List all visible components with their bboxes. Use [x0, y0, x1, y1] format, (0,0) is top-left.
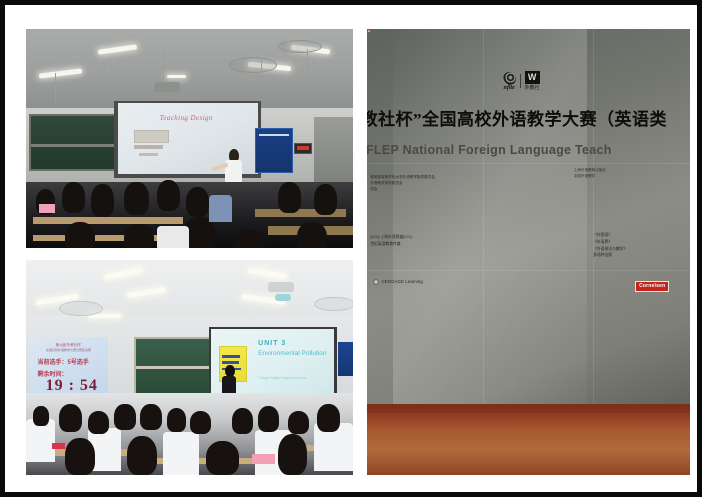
student-head: [206, 441, 239, 475]
audience-torso: [157, 226, 190, 248]
audience-head: [62, 182, 85, 213]
cengage-wordmark: CENGAGE Learning: [381, 279, 422, 284]
projector-mount: [163, 51, 164, 84]
sflep-w-icon: W: [525, 71, 540, 84]
nflte-wordmark: nflte: [503, 85, 514, 91]
desk-name-card: [252, 454, 275, 465]
slide-image-box: [134, 130, 169, 143]
ceiling-fan-icon: [278, 40, 323, 53]
projector-icon: [154, 82, 180, 93]
photo-classroom-contest: 第九届“外教社杯” 全国高校外语教学大赛分赛区决赛 当前选手：5号选手 剩余时间…: [26, 260, 353, 475]
sponsor-line: 世纪英语教育传媒: [370, 241, 467, 248]
student-head: [33, 406, 49, 425]
lamp-mount: [55, 73, 56, 104]
audience-head: [235, 230, 264, 248]
timer-header-1: 第九届“外教社杯”: [42, 342, 94, 346]
banner-sponsors-right: 《外国语》 《外语界》 《外语测试与教学》 多语种出版: [593, 232, 677, 259]
lamp-mount: [261, 60, 262, 86]
student-head: [114, 404, 135, 430]
audience-head: [297, 222, 326, 248]
cengage-mark-icon: [373, 279, 379, 285]
cengage-logo: CENGAGE Learning: [373, 279, 422, 285]
logo-divider: [520, 74, 521, 88]
organizer-line: 中国外语教学: [574, 173, 658, 179]
slide-unit-label: UNIT 3: [258, 340, 286, 347]
photo-award-ceremony: nflte W 外教社 教社杯”全国高校外语教学大赛（英语类 SFLEP Nat…: [367, 29, 690, 475]
banner-seam: [483, 29, 484, 413]
sponsor-line: (ICS)·上海外语频道(ICS): [370, 234, 467, 241]
student-head: [258, 406, 279, 432]
ceiling-fan-icon: [314, 297, 353, 312]
student-head: [232, 408, 253, 434]
banner-seam: [593, 29, 594, 413]
audience-head: [186, 187, 209, 218]
sponsor-line: 《外国语》: [593, 232, 677, 239]
wall-notice-board: [338, 342, 353, 376]
student-torso: [163, 432, 199, 475]
student-head: [59, 404, 82, 432]
audience-head: [124, 182, 149, 215]
ceiling-fan-icon: [59, 301, 104, 316]
slide-bullet-1: [134, 145, 163, 149]
timer-header-2: 全国高校外语教学大赛分赛区决赛: [39, 348, 98, 352]
student-head: [288, 411, 309, 435]
textbook-band: [222, 361, 238, 364]
slide-title: Teaching Design: [144, 114, 229, 125]
ceiling-fan-icon: [229, 57, 277, 72]
banner-organizers-right: 上海外语教育出版社 中国外语教学: [574, 167, 658, 179]
banner-seam: [367, 163, 690, 164]
sflep-cn-wordmark: 外教社: [525, 84, 540, 91]
sponsor-line: 《外语界》: [593, 239, 677, 246]
student-head: [317, 404, 340, 432]
audience-head: [278, 182, 301, 213]
projector-lens: [275, 294, 291, 300]
banner-title-chinese: 教社杯”全国高校外语教学大赛（英语类: [367, 105, 690, 130]
stage-floor: [367, 413, 690, 475]
student-head: [88, 411, 109, 435]
student-head: [140, 404, 161, 430]
banner-seam: [367, 270, 690, 271]
cornelsen-logo: Cornelsen: [635, 281, 669, 292]
slide-topic: Environmental Pollution: [258, 350, 330, 358]
banner-organizers-left: 教育部高等学校大学外语教学指导委员会 外语教学指导委员会 学会: [370, 174, 460, 192]
desk-marker: [52, 443, 65, 449]
desk-name-card: [39, 204, 55, 213]
student-torso: [26, 419, 55, 462]
student-head: [167, 408, 187, 432]
certificate-folder-right: [367, 29, 369, 31]
audience-torso: [209, 195, 232, 221]
textbook-band: [222, 355, 240, 358]
audience-head: [314, 184, 337, 215]
collage-page: Teaching Design: [0, 0, 702, 497]
ceiling-lamp-icon: [167, 75, 187, 79]
lamp-mount: [104, 64, 105, 90]
slide-bullet-2: [139, 153, 159, 156]
blackboard: [134, 337, 216, 397]
student-head: [127, 436, 156, 475]
lamp-mount: [307, 49, 308, 75]
audience-head: [157, 180, 180, 211]
blackboard: [29, 114, 117, 171]
door: [314, 117, 353, 187]
audience-head: [91, 184, 114, 217]
certificate-inner-border: [368, 30, 370, 32]
audience-head: [124, 224, 153, 248]
desk-row: [33, 217, 183, 224]
projector-icon: [268, 282, 294, 293]
audience-head: [65, 222, 94, 248]
banner-logo-group: nflte W 外教社: [503, 67, 587, 96]
student-head: [65, 438, 94, 475]
student-head: [278, 434, 307, 475]
banner-title-english: SFLEP National Foreign Language Teach: [367, 143, 690, 157]
banner-sponsors-left: (ICS)·上海外语频道(ICS) 世纪英语教育传媒: [370, 234, 467, 248]
sponsor-line: 多语种出版: [593, 252, 677, 259]
sponsor-line: 《外语测试与教学》: [593, 246, 677, 253]
student-head: [190, 411, 211, 435]
nflte-swirl-icon: [503, 72, 516, 85]
wall-clock-display: [294, 143, 312, 154]
timer-contestant-label: 当前选手：5号选手: [37, 357, 102, 366]
photo-lecture-hall: Teaching Design: [26, 29, 353, 248]
slide-subtitle: College English Integrated Course: [258, 376, 323, 380]
organizer-line: 学会: [370, 186, 460, 192]
wall-notice-board: [255, 128, 293, 174]
